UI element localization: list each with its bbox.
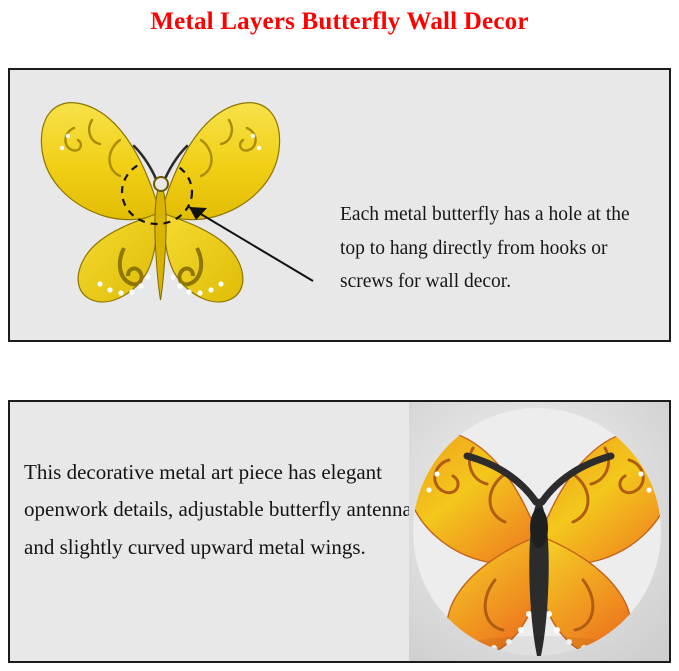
product-description-text: This decorative metal art piece has eleg… bbox=[24, 454, 424, 566]
yellow-butterfly-illustration bbox=[28, 88, 293, 318]
page-title: Metal Layers Butterfly Wall Decor bbox=[0, 8, 679, 36]
feature-panel-bottom: This decorative metal art piece has eleg… bbox=[8, 400, 671, 663]
feature-panel-top: Each metal butterfly has a hole at the t… bbox=[8, 68, 671, 342]
hanging-hole-callout-text: Each metal butterfly has a hole at the t… bbox=[340, 198, 650, 299]
butterfly-product-photo bbox=[409, 402, 669, 661]
orange-yellow-butterfly-photo-graphic bbox=[409, 402, 669, 661]
